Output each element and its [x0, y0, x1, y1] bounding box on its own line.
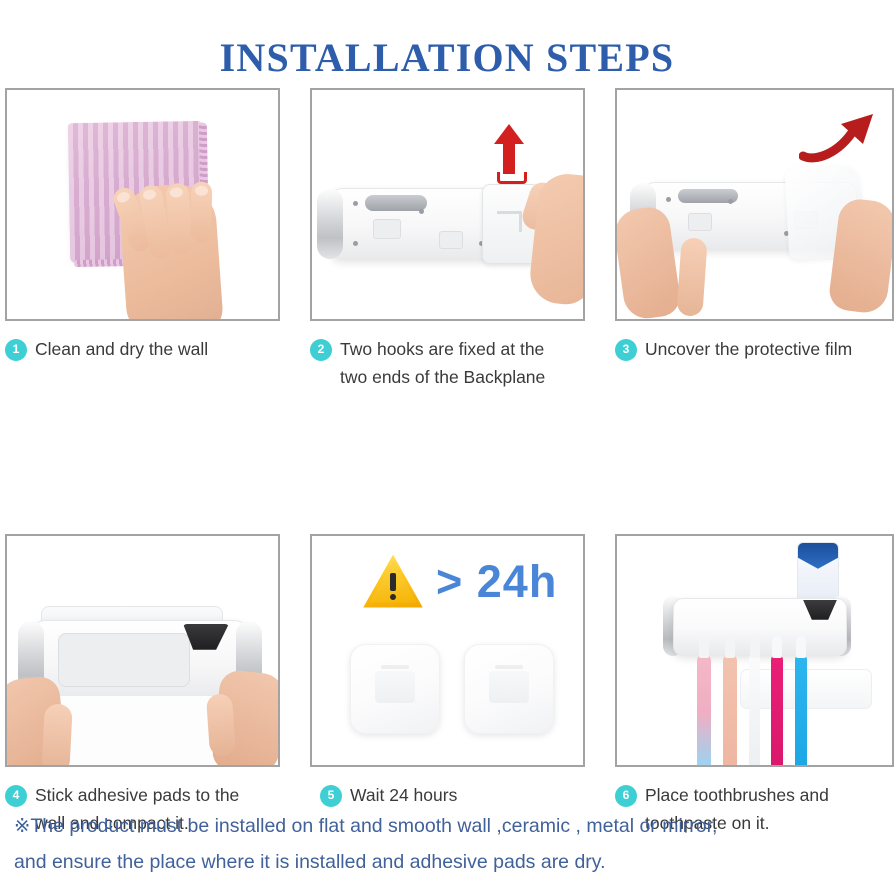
screw — [353, 201, 358, 206]
step-card-3: 3 Uncover the protective film — [615, 88, 894, 392]
fingernail — [195, 186, 208, 196]
front-door — [58, 633, 190, 687]
scene-backplane-with-hook-and-up-arrow — [312, 90, 583, 319]
exclamation-bar — [390, 573, 396, 591]
warning-triangle-icon — [362, 554, 424, 612]
screw — [419, 209, 424, 214]
pad-tab — [495, 665, 523, 669]
step-number-badge-2: 2 — [310, 339, 332, 361]
pad-tab — [381, 665, 409, 669]
scene-warning-triangle-with-adhesive-pads: > 24h — [312, 536, 583, 765]
wait-time-label: > 24h — [436, 556, 557, 608]
step-number-badge-5: 5 — [320, 785, 342, 807]
step-image-4 — [5, 534, 280, 767]
step-caption-text-3: Uncover the protective film — [645, 335, 852, 363]
step-image-1 — [5, 88, 280, 321]
mount-slot — [373, 219, 401, 239]
brush-head — [772, 636, 782, 658]
pad-center-square — [489, 671, 529, 703]
toothbrush-3 — [749, 654, 760, 767]
step-card-2: 2 Two hooks are fixed at the two ends of… — [310, 88, 585, 392]
step-number-badge-1: 1 — [5, 339, 27, 361]
step-image-6 — [615, 534, 894, 767]
step-caption-text-5: Wait 24 hours — [350, 781, 457, 809]
finger-left — [676, 237, 707, 317]
step-card-1: 1 Clean and dry the wall — [5, 88, 280, 392]
arrow-stem — [503, 140, 515, 174]
step-number-badge-4: 4 — [5, 785, 27, 807]
step-image-5: > 24h — [310, 534, 585, 767]
adhesive-pad-right — [464, 644, 554, 734]
step-image-3 — [615, 88, 894, 321]
step-image-2 — [310, 88, 585, 321]
mount-slot — [439, 231, 463, 249]
end-cap-left — [317, 189, 343, 259]
mount-slot — [688, 213, 712, 231]
fingernail — [169, 187, 183, 198]
scene-mounted-holder-with-toothbrushes-and-toothpaste — [617, 536, 892, 765]
fingernail — [142, 189, 157, 201]
toothbrush-5 — [795, 654, 807, 767]
brush-head — [725, 636, 735, 658]
arrow-base — [497, 172, 527, 184]
finger-pinky — [190, 182, 212, 242]
step-card-5: > 24h 5 Wait 24 hours — [310, 534, 585, 838]
toothbrush-4 — [771, 654, 783, 767]
brush-head — [796, 636, 806, 658]
footer-note: ※The product must be installed on flat a… — [14, 808, 882, 880]
finger-right — [206, 693, 236, 757]
toothbrush-2 — [723, 654, 737, 767]
page-title: INSTALLATION STEPS — [0, 27, 894, 89]
toothpaste-label — [798, 543, 838, 569]
step-caption-2: 2 Two hooks are fixed at the two ends of… — [310, 335, 585, 392]
fingernail — [116, 190, 132, 204]
step-card-6: 6 Place toothbrushes and toothpaste on i… — [615, 534, 894, 838]
step-caption-1: 1 Clean and dry the wall — [5, 335, 280, 363]
footer-line-2: and ensure the place where it is install… — [14, 844, 882, 880]
brush-head — [750, 636, 760, 658]
brush-head — [699, 636, 709, 658]
step-number-badge-3: 3 — [615, 339, 637, 361]
vent-strip — [365, 195, 427, 211]
pad-center-square — [375, 671, 415, 703]
step-caption-text-2: Two hooks are fixed at the two ends of t… — [340, 335, 545, 392]
installation-steps-infographic: INSTALLATION STEPS 1 Clean and dry the w… — [0, 0, 894, 883]
hand — [118, 182, 224, 321]
screw — [728, 199, 733, 204]
step-caption-text-1: Clean and dry the wall — [35, 335, 208, 363]
step-caption-5: 5 Wait 24 hours — [310, 781, 585, 809]
steps-grid: 1 Clean and dry the wall — [5, 88, 889, 837]
step-caption-3: 3 Uncover the protective film — [615, 335, 894, 363]
footer-line-1: ※The product must be installed on flat a… — [14, 808, 882, 844]
scene-peeling-protective-film-with-curved-arrow — [617, 90, 892, 319]
exclamation-dot — [390, 594, 396, 600]
scene-hand-wiping-wall-with-pink-cloth — [7, 90, 278, 319]
adhesive-pad-left — [350, 644, 440, 734]
step-number-badge-6: 6 — [615, 785, 637, 807]
finger-left — [41, 703, 73, 767]
toothpaste-tube — [797, 542, 839, 604]
up-arrow-icon — [492, 124, 526, 180]
screw — [666, 197, 671, 202]
hook-bracket-shape — [497, 211, 522, 232]
curved-arrow-icon — [799, 110, 879, 166]
toothbrush-1 — [697, 654, 711, 767]
screw — [353, 241, 358, 246]
scene-two-hands-pressing-device-onto-wall — [7, 536, 278, 765]
step-card-4: 4 Stick adhesive pads to the wall and co… — [5, 534, 280, 838]
